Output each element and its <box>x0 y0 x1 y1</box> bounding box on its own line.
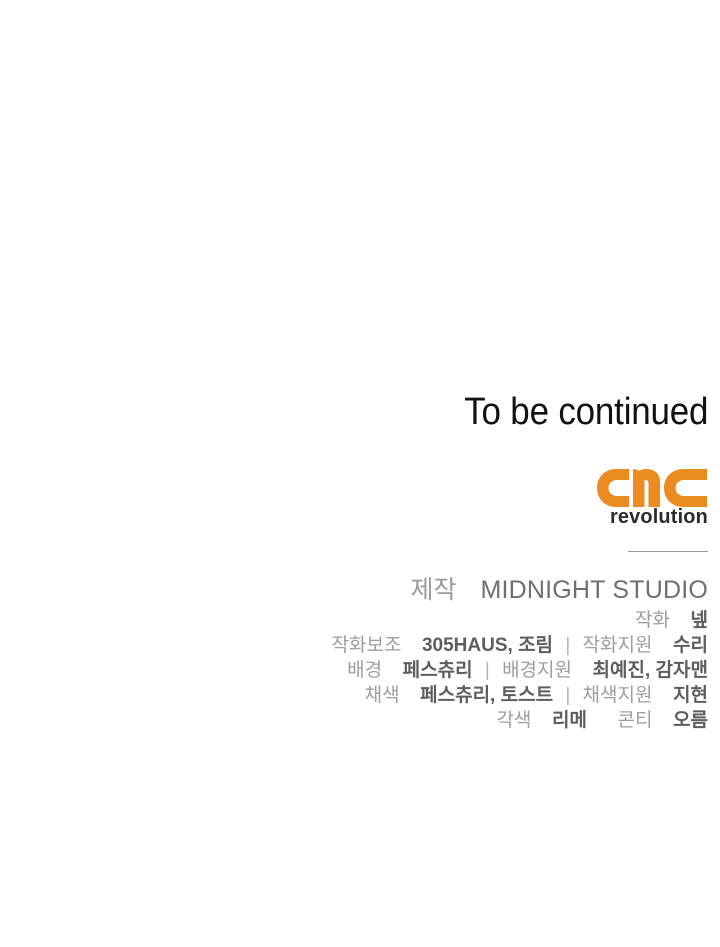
to-be-continued-text: To be continued <box>464 391 708 434</box>
credit-line-adaptation: 각색 리메 콘티 오름 <box>8 711 708 730</box>
credit-line-art-assist: 작화보조 305HAUS, 조림 | 작화지원 수리 <box>8 636 708 655</box>
credit-name: 리메 <box>552 710 587 731</box>
credit-name: 최예진, 감자맨 <box>593 660 708 681</box>
credit-line-background: 배경 페스츄리 | 배경지원 최예진, 감자맨 <box>8 661 708 680</box>
credit-separator: | <box>558 635 577 656</box>
cnc-revolution-logo: revolution <box>596 466 708 528</box>
cnc-logo-wordmark: revolution <box>599 507 708 528</box>
credit-role: 콘티 <box>618 710 653 731</box>
credit-role: 채색 <box>365 685 400 706</box>
credit-name: 지현 <box>673 685 708 706</box>
credit-role: 각색 <box>496 710 531 731</box>
credit-name: 페스츄리 <box>403 660 473 681</box>
credit-name: MIDNIGHT STUDIO <box>480 576 708 604</box>
credit-separator: | <box>478 660 497 681</box>
credit-separator: | <box>558 685 577 706</box>
credit-name: 오름 <box>673 710 708 731</box>
credit-line-artist: 작화 넾 <box>8 611 708 630</box>
credit-line-studio: 제작 MIDNIGHT STUDIO <box>8 578 708 603</box>
credit-name: 페스츄리, 토스트 <box>420 685 553 706</box>
credit-line-coloring: 채색 페스츄리, 토스트 | 채색지원 지현 <box>8 686 708 705</box>
credit-role: 작화보조 <box>332 635 402 656</box>
cnc-logo-icon <box>596 466 708 508</box>
credit-role: 작화 <box>635 610 670 631</box>
credit-name: 넾 <box>691 610 708 631</box>
credit-role: 배경 <box>347 660 382 681</box>
credits-divider <box>628 551 708 552</box>
credit-role: 배경지원 <box>502 660 572 681</box>
credit-name: 수리 <box>673 635 708 656</box>
credit-role: 작화지원 <box>583 635 653 656</box>
credits-block: 제작 MIDNIGHT STUDIO 작화 넾 작화보조 305HAUS, 조림… <box>8 578 708 730</box>
credit-role: 채색지원 <box>583 685 653 706</box>
credit-name: 305HAUS, 조림 <box>422 635 553 656</box>
webtoon-endcard: To be continued revolution 제작 MIDNIGHT S… <box>0 0 720 947</box>
credit-role: 제작 <box>411 576 457 604</box>
